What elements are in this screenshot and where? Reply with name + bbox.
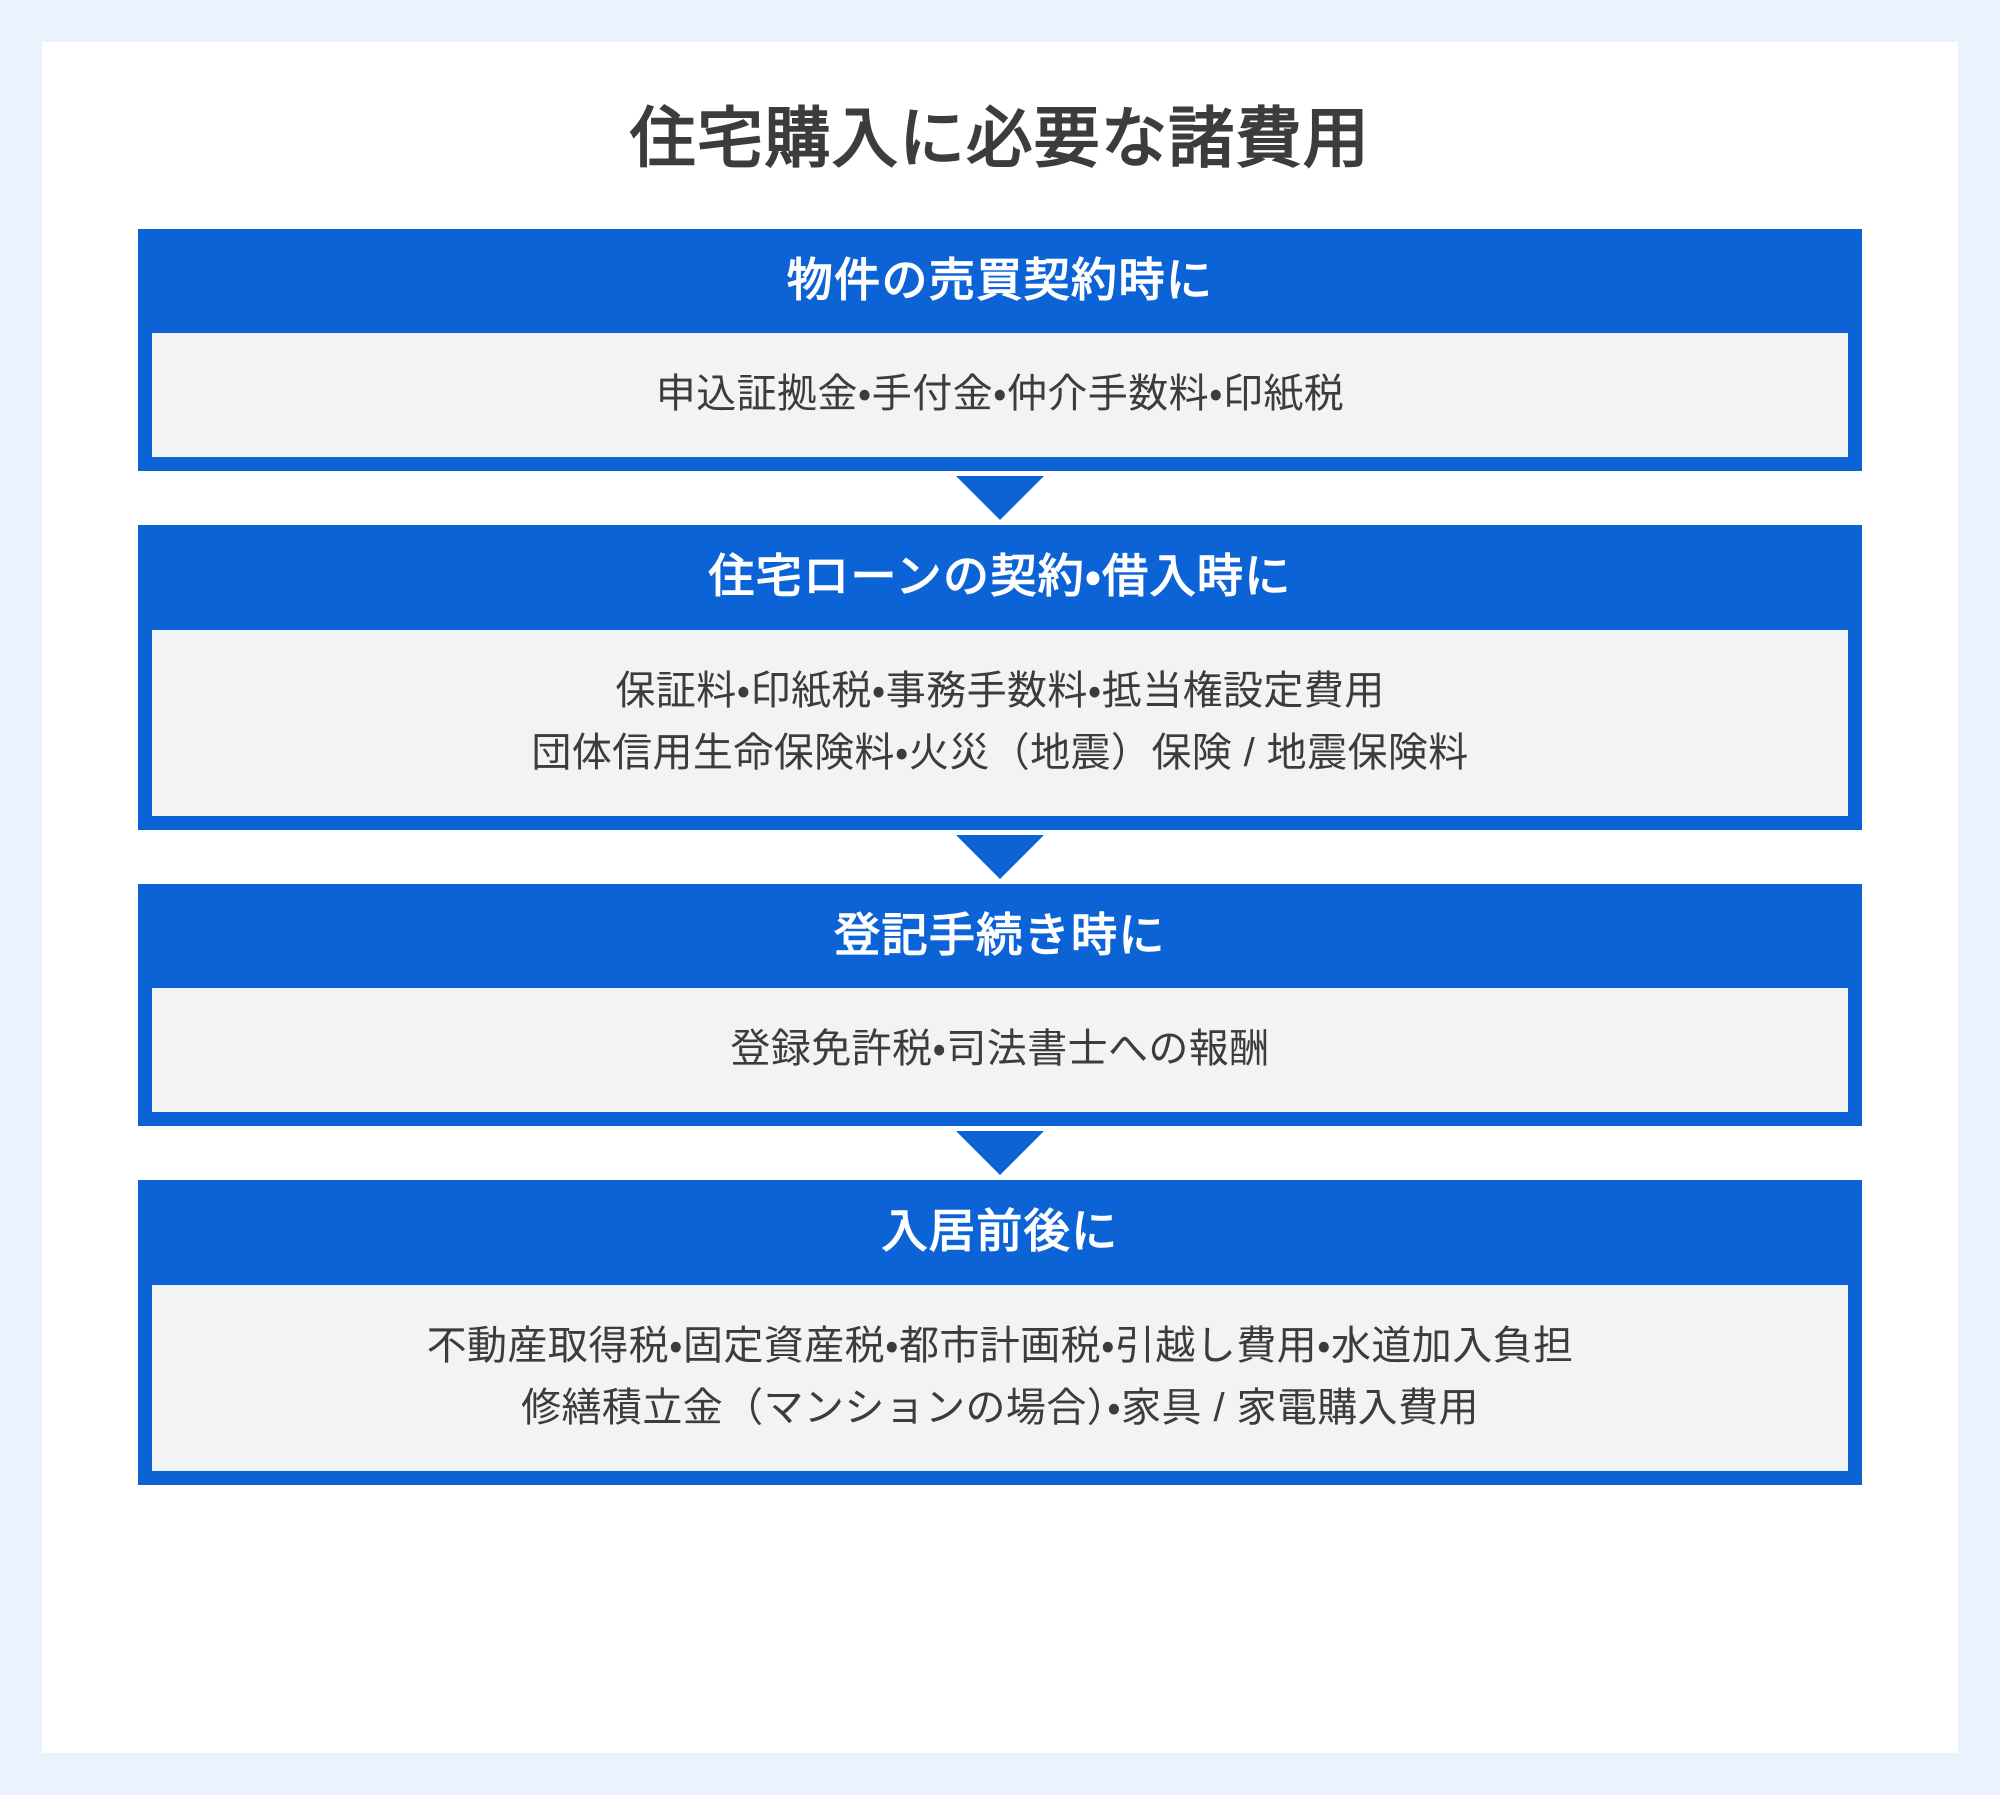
stage-4-header: 入居前後に [138,1180,1862,1285]
stage-1-line-1: 申込証拠金・手付金・仲介手数料・印紙税 [176,363,1824,425]
stage-2-line-1: 保証料・印紙税・事務手数料・抵当権設定費用 [176,660,1824,722]
stage-4-line-1: 不動産取得税・固定資産税・都市計画税・引越し費用・水道加入負担 [176,1315,1824,1377]
stage-1-header: 物件の売買契約時に [138,229,1862,334]
chevron-down-arrow-icon [956,476,1044,520]
stage-2-header: 住宅ローンの契約・借入時に [138,525,1862,630]
stage-2-line-2: 団体信用生命保険料・火災（地震）保険 / 地震保険料 [176,722,1824,784]
stage-2-content: 保証料・印紙税・事務手数料・抵当権設定費用 団体信用生命保険料・火災（地震）保険… [152,630,1848,816]
stage-3: 登記手続き時に 登録免許税・司法書士への報酬 [138,884,1862,1127]
stage-4-body: 不動産取得税・固定資産税・都市計画税・引越し費用・水道加入負担 修繕積立金（マン… [138,1285,1862,1485]
connector-1 [138,471,1862,525]
stage-4-content: 不動産取得税・固定資産税・都市計画税・引越し費用・水道加入負担 修繕積立金（マン… [152,1285,1848,1471]
chevron-down-arrow-icon [956,1131,1044,1175]
stage-2: 住宅ローンの契約・借入時に 保証料・印紙税・事務手数料・抵当権設定費用 団体信用… [138,525,1862,830]
connector-3 [138,1126,1862,1180]
stage-2-body: 保証料・印紙税・事務手数料・抵当権設定費用 団体信用生命保険料・火災（地震）保険… [138,630,1862,830]
page-title: 住宅購入に必要な諸費用 [138,102,1862,175]
stage-1-content: 申込証拠金・手付金・仲介手数料・印紙税 [152,333,1848,457]
stage-3-body: 登録免許税・司法書士への報酬 [138,988,1862,1126]
cost-flow-diagram: 物件の売買契約時に 申込証拠金・手付金・仲介手数料・印紙税 住宅ローンの契約・借… [138,229,1862,1485]
stage-4: 入居前後に 不動産取得税・固定資産税・都市計画税・引越し費用・水道加入負担 修繕… [138,1180,1862,1485]
connector-2 [138,830,1862,884]
stage-4-line-2: 修繕積立金（マンションの場合）・家具 / 家電購入費用 [176,1377,1824,1439]
stage-1-body: 申込証拠金・手付金・仲介手数料・印紙税 [138,333,1862,471]
stage-3-line-1: 登録免許税・司法書士への報酬 [176,1018,1824,1080]
infographic-inner: 住宅購入に必要な諸費用 物件の売買契約時に 申込証拠金・手付金・仲介手数料・印紙… [42,42,1958,1753]
chevron-down-arrow-icon [956,835,1044,879]
stage-3-content: 登録免許税・司法書士への報酬 [152,988,1848,1112]
stage-3-header: 登記手続き時に [138,884,1862,989]
stage-1: 物件の売買契約時に 申込証拠金・手付金・仲介手数料・印紙税 [138,229,1862,472]
infographic-card: 住宅購入に必要な諸費用 物件の売買契約時に 申込証拠金・手付金・仲介手数料・印紙… [42,42,1958,1753]
